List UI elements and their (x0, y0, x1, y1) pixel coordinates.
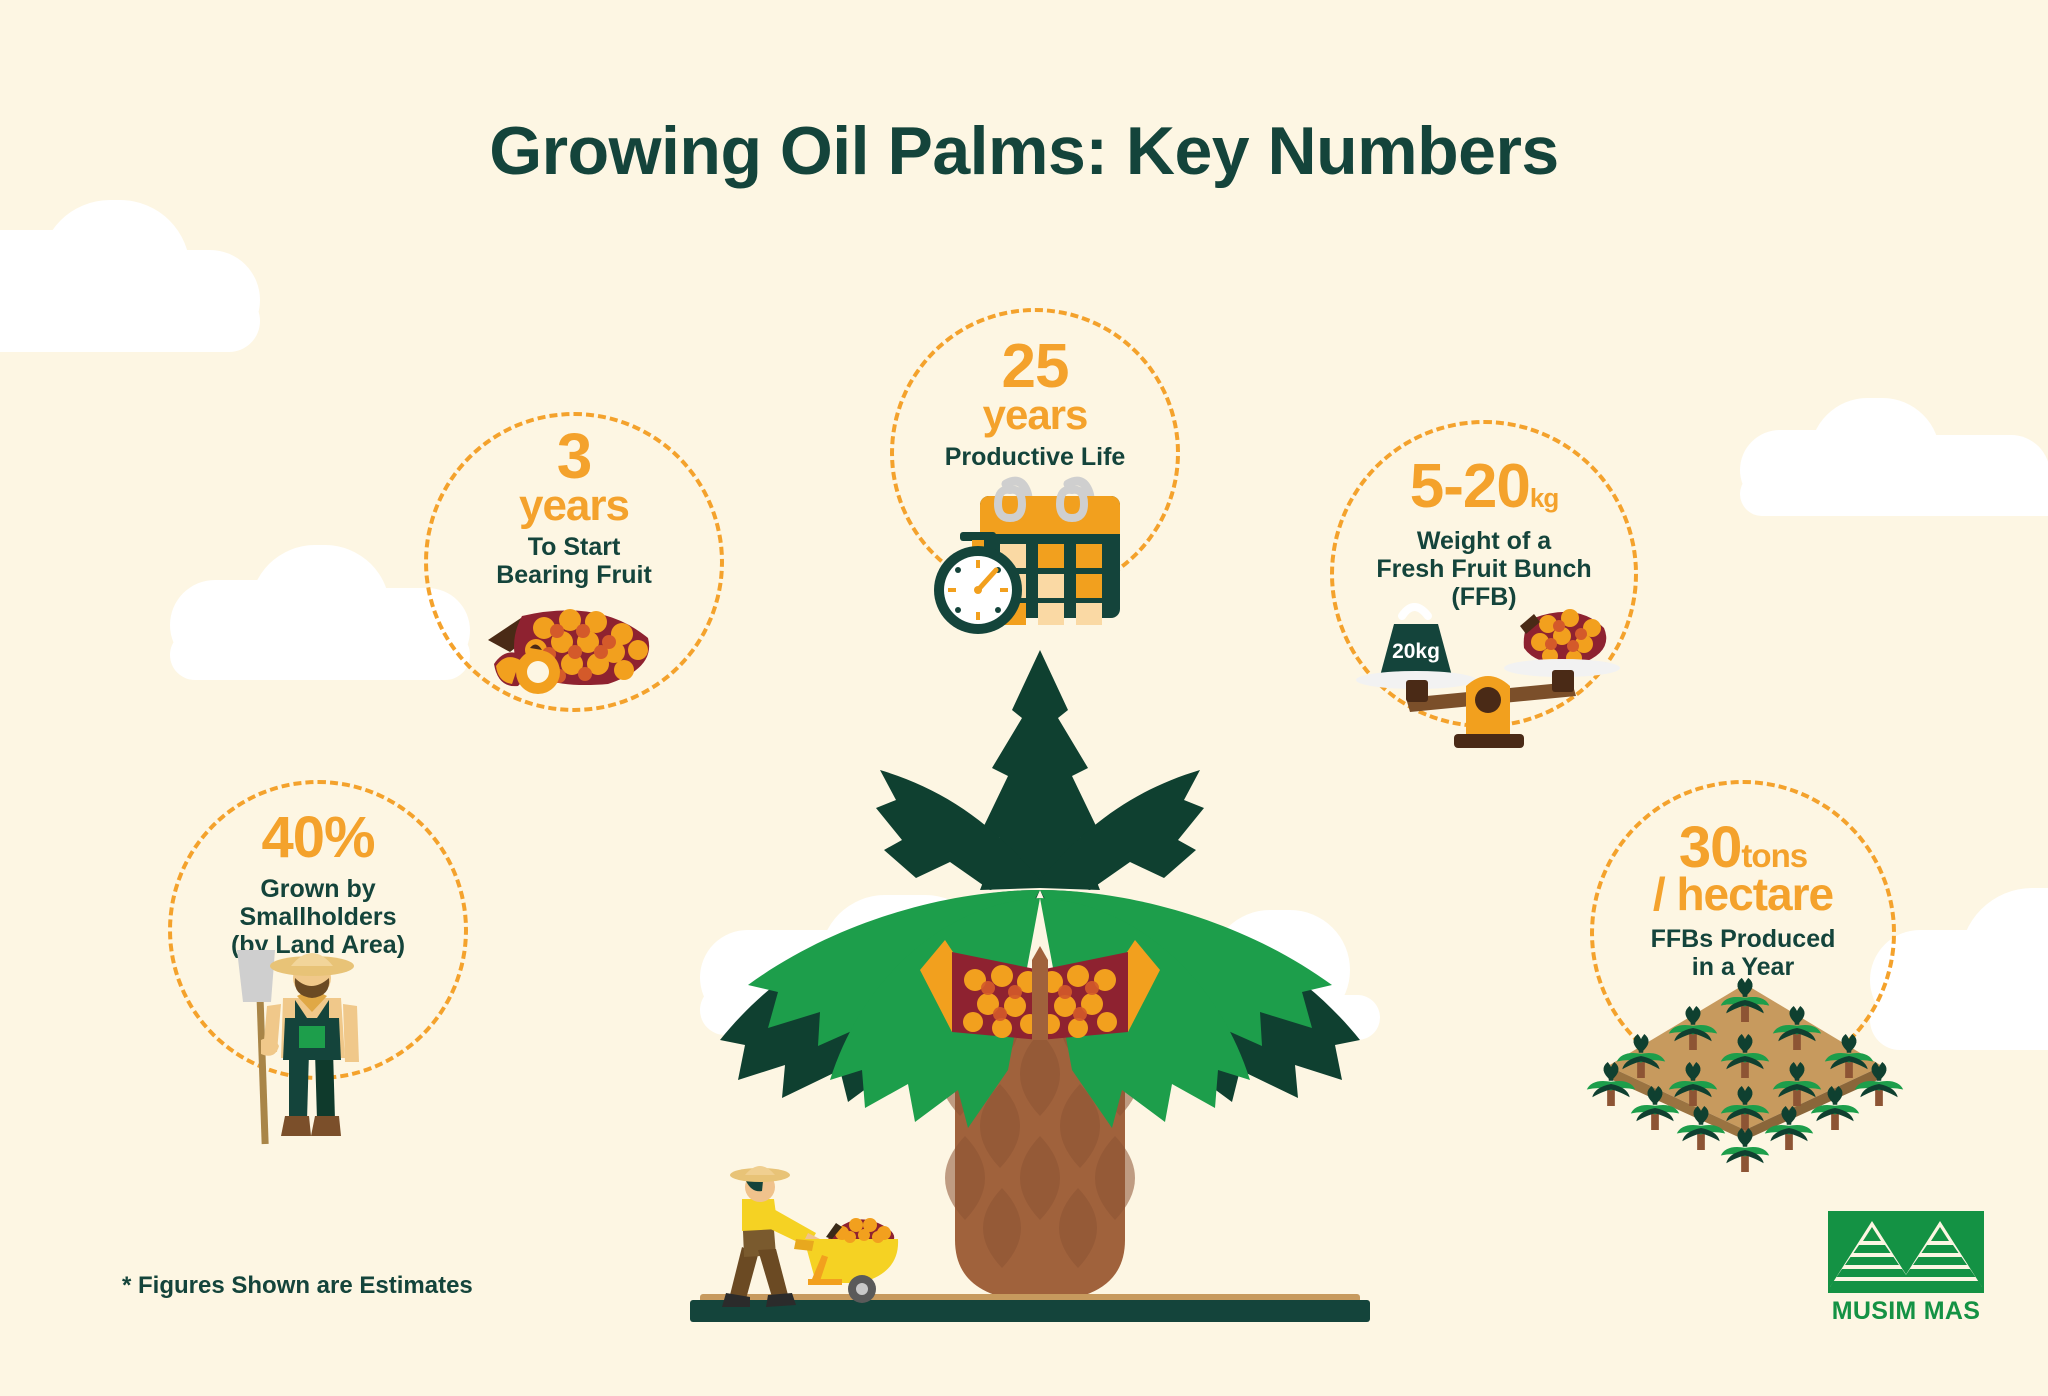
calendar-stopwatch-icon (928, 478, 1143, 638)
stat-label-2: Smallholders (168, 903, 468, 931)
stat-yield-per-hectare: 30tons / hectare FFBs Produced in a Year (1590, 780, 1896, 1086)
stat-label-1: Weight of a (1330, 527, 1638, 555)
stat-smallholders: 40% Grown by Smallholders (by Land Area) (168, 780, 468, 1080)
weighing-scale-icon: 20kg (1348, 590, 1618, 750)
musim-mas-logo: MUSIM MAS (1828, 1211, 1984, 1326)
stat-label-2: Bearing Fruit (424, 561, 724, 589)
page-title: Growing Oil Palms: Key Numbers (0, 112, 2048, 190)
stat-value: 5-20 (1410, 452, 1530, 521)
stat-label-1: To Start (424, 533, 724, 561)
stat-label-1: FFBs Produced (1590, 925, 1896, 953)
worker-with-wheelbarrow-illustration (700, 1155, 920, 1315)
logo-text: MUSIM MAS (1828, 1297, 1984, 1326)
scale-weight-label: 20kg (1392, 640, 1440, 663)
twin-pyramid-icon (1828, 1211, 1984, 1293)
infographic-canvas: Growing Oil Palms: Key Numbers (0, 0, 2048, 1396)
plantation-grid-icon (1600, 970, 1890, 1140)
footnote: * Figures Shown are Estimates (122, 1272, 473, 1300)
stat-ffb-weight: 5-20kg Weight of a Fresh Fruit Bunch (FF… (1330, 420, 1638, 728)
stat-unit: years (890, 395, 1180, 435)
stat-unit: years (424, 485, 724, 527)
stat-value: 25 (890, 338, 1180, 397)
stat-value: 40% (168, 810, 468, 865)
stat-years-to-bear: 3 years To Start Bearing Fruit (424, 412, 724, 712)
fresh-fruit-bunch-icon (480, 594, 670, 704)
stat-label-1: Grown by (168, 875, 468, 903)
stat-value-line2: / hectare (1590, 873, 1896, 917)
stat-value: 3 (424, 426, 724, 487)
farmer-icon (223, 940, 398, 1150)
stat-label-1: Productive Life (890, 443, 1180, 471)
stat-productive-life: 25 years Productive Life (890, 308, 1180, 598)
stat-label-2: Fresh Fruit Bunch (1330, 555, 1638, 583)
stat-unit: kg (1530, 483, 1558, 513)
